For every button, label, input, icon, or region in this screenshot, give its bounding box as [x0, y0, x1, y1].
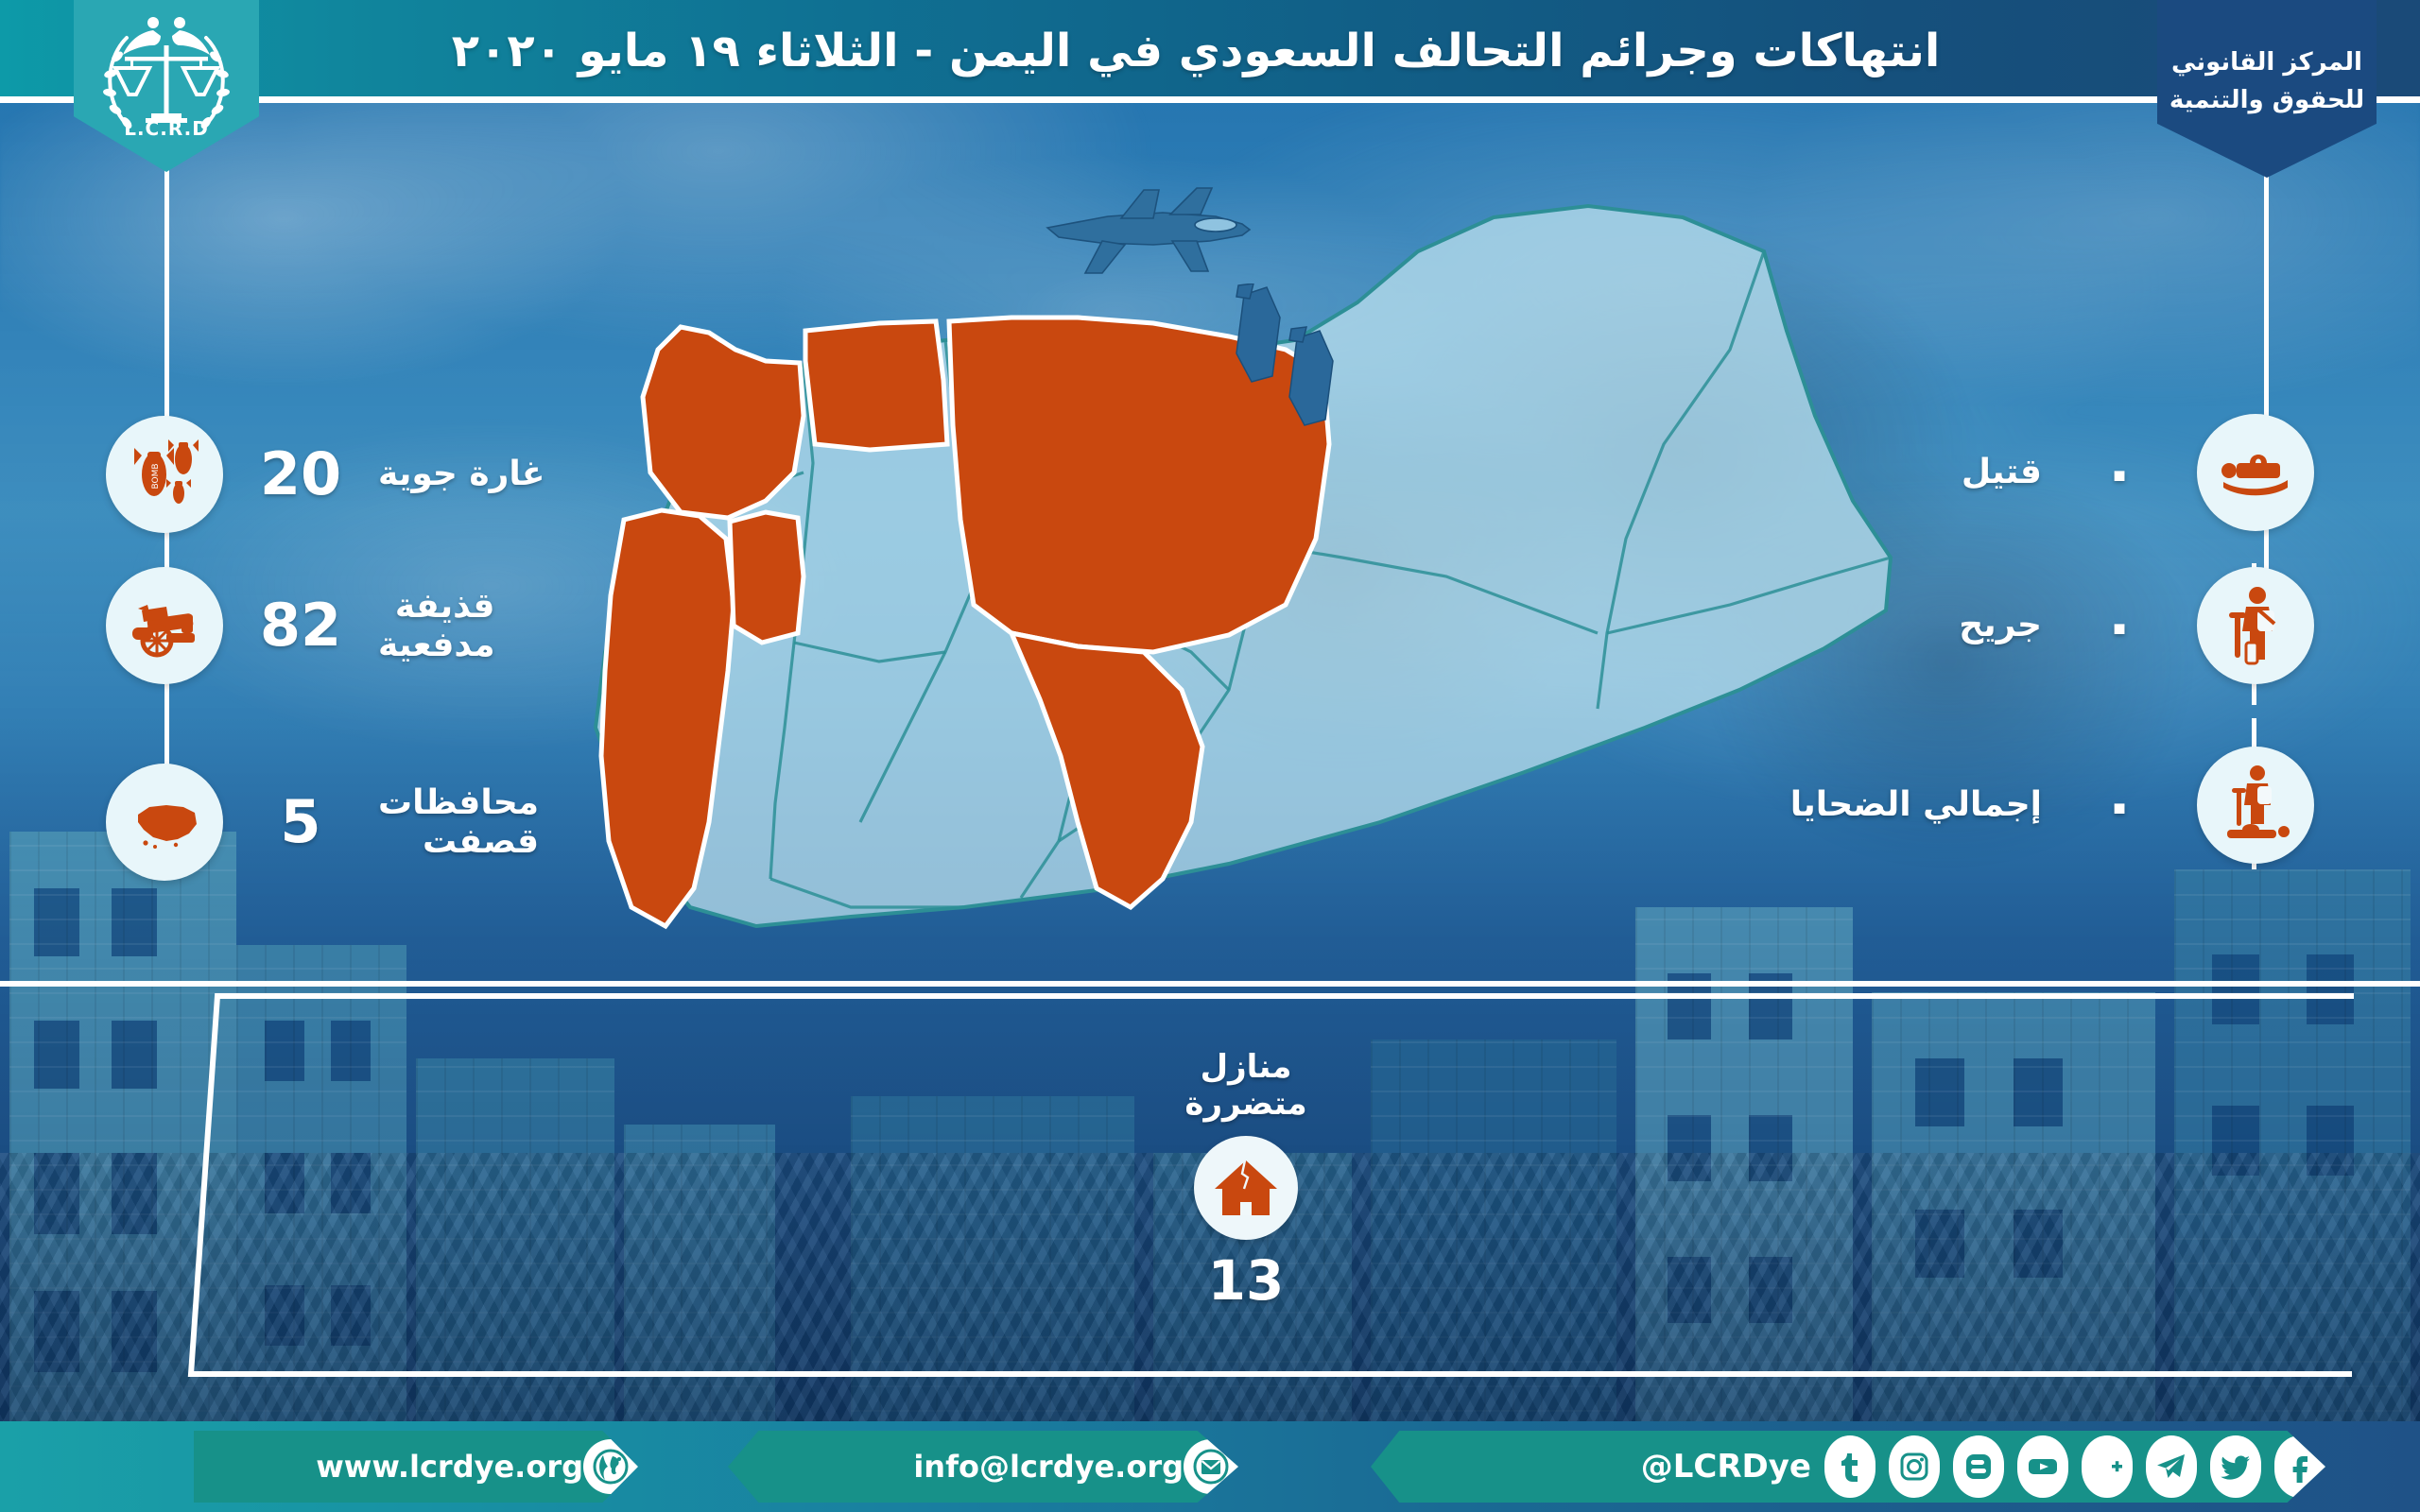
- social-ribbon: G: [1371, 1431, 2325, 1503]
- tumblr-icon[interactable]: [1824, 1435, 1875, 1498]
- infographic-page: انتهاكات وجرائم التحالف السعودي في اليمن…: [0, 0, 2420, 1512]
- stat-artillery-value: 82: [255, 596, 346, 655]
- stat-injured-value: ٠: [2074, 596, 2165, 655]
- svg-text:G: G: [2091, 1453, 2092, 1481]
- org-name-line1: المركز القانوني: [2171, 48, 2362, 77]
- stat-airstrikes: BOMB 20 غارة جوية: [106, 416, 544, 533]
- social-handle: @LCRDye: [1641, 1448, 1811, 1486]
- youtube-icon[interactable]: [2017, 1435, 2068, 1498]
- globe-icon: [583, 1439, 638, 1494]
- website-text: www.lcrdye.org: [316, 1449, 583, 1485]
- dead-body-icon: [2197, 414, 2314, 531]
- stat-airstrikes-label: غارة جوية: [378, 455, 544, 493]
- stat-damaged-homes: منازل متضررة 13: [1161, 1049, 1331, 1308]
- website-ribbon[interactable]: www.lcrdye.org: [194, 1431, 638, 1503]
- stat-killed-label: قتيل: [1962, 453, 2042, 491]
- blogger-icon[interactable]: [1953, 1435, 2004, 1498]
- svg-text:BOMB: BOMB: [151, 463, 161, 489]
- stat-damaged-homes-label: منازل متضررة: [1184, 1049, 1306, 1123]
- stat-artillery-label: قذيفة مدفعية: [378, 587, 495, 665]
- telegram-icon[interactable]: [2146, 1435, 2197, 1498]
- stat-killed: قتيل ٠: [1962, 414, 2314, 531]
- stat-damaged-homes-value: 13: [1208, 1253, 1285, 1308]
- house-icon: [1194, 1136, 1298, 1240]
- twitter-icon[interactable]: [2210, 1435, 2261, 1498]
- page-title: انتهاكات وجرائم التحالف السعودي في اليمن…: [284, 0, 2108, 102]
- stat-injured-label: جريح: [1959, 606, 2042, 644]
- footer-bar: www.lcrdye.org info@lcrdye.org: [0, 1421, 2420, 1512]
- envelope-icon: [1184, 1439, 1238, 1494]
- section-divider: [0, 981, 2420, 987]
- stat-killed-value: ٠: [2074, 443, 2165, 502]
- stat-total-casualties: إجمالي الضحايا ٠: [1790, 747, 2314, 864]
- injured-icon: [2197, 567, 2314, 684]
- email-text: info@lcrdye.org: [913, 1449, 1184, 1485]
- stat-governorates-value: 5: [255, 793, 346, 851]
- stat-injured: جريح ٠: [1959, 567, 2314, 684]
- stat-governorates: 5 محافظات قصفت: [106, 764, 539, 881]
- falling-bombs-icon: [1229, 283, 1399, 472]
- header-bar: انتهاكات وجرائم التحالف السعودي في اليمن…: [0, 0, 2420, 102]
- fighter-jet-icon: [1030, 175, 1276, 298]
- stat-total-casualties-label: إجمالي الضحايا: [1790, 785, 2042, 824]
- stat-airstrikes-value: 20: [255, 445, 346, 504]
- logo-lcrd-text: L.C.R.D: [91, 117, 242, 140]
- stat-artillery: 82 قذيفة مدفعية: [106, 567, 495, 684]
- facebook-icon[interactable]: [2274, 1435, 2325, 1498]
- bomb-icon: BOMB: [106, 416, 223, 533]
- casualties-icon: [2197, 747, 2314, 864]
- header-divider-rule: [0, 96, 2420, 103]
- instagram-icon[interactable]: [1889, 1435, 1940, 1498]
- email-ribbon[interactable]: info@lcrdye.org: [728, 1431, 1238, 1503]
- org-name-line2: للحقوق والتنمية: [2169, 86, 2364, 114]
- googleplus-icon[interactable]: G: [2082, 1435, 2133, 1498]
- stat-total-casualties-value: ٠: [2074, 776, 2165, 834]
- yemen-map-icon: [106, 764, 223, 881]
- stat-governorates-label: محافظات قصفت: [378, 783, 539, 862]
- artillery-icon: [106, 567, 223, 684]
